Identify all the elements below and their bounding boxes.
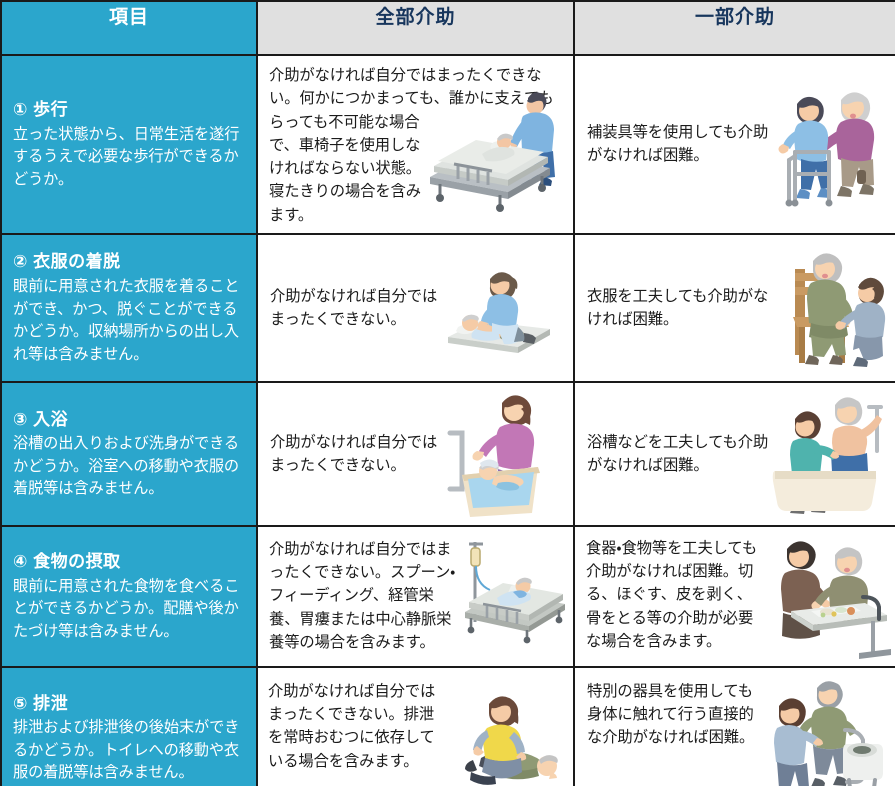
full-support-text: 介助がなければ自分ではまったくできない。排泄を常時おむつに依存している場合を含み… bbox=[268, 683, 435, 770]
caregiver-dressing-seated-elderly-man-icon bbox=[771, 243, 889, 373]
header-item: 項目 bbox=[1, 1, 257, 55]
table-row: ③ 入浴 浴槽の出入りおよび洗身ができるかどうか。浴室への移動や衣服の着脱等は含… bbox=[1, 382, 895, 526]
item-title: ③ 入浴 bbox=[13, 408, 246, 433]
table-row: ② 衣服の着脱 眼前に用意された衣服を着ることができ、かつ、脱ぐことができるかど… bbox=[1, 234, 895, 382]
item-title: ① 歩行 bbox=[13, 98, 246, 123]
table-row: ① 歩行 立った状態から、日常生活を遂行するうえで必要な歩行ができるかどうか。 bbox=[1, 55, 895, 234]
care-assessment-table-page: 項目 全部介助 一部介助 ① 歩行 立った状態から、日常生活を遂行するうえで必要… bbox=[0, 0, 895, 786]
item-description: 立った状態から、日常生活を遂行するうえで必要な歩行ができるかどうか。 bbox=[13, 124, 246, 192]
caregiver-assisting-elderly-woman-with-walker-icon bbox=[771, 74, 889, 214]
caregiver-changing-diaper-on-floor-icon bbox=[451, 680, 569, 786]
caregiver-assisting-meal-at-table-icon bbox=[767, 537, 891, 665]
item-cell-bathing: ③ 入浴 浴槽の出入りおよび洗身ができるかどうか。浴室への移動や衣服の着脱等は含… bbox=[1, 382, 257, 526]
full-support-text: 介助がなければ自分ではまったくできない。 bbox=[270, 285, 440, 332]
table-row: ④ 食物の摂取 眼前に用意された食物を食べることができるかどうか。配膳や後かたづ… bbox=[1, 526, 895, 667]
item-description: 浴槽の出入りおよび洗身ができるかどうか。浴室への移動や衣服の着脱等は含みません。 bbox=[13, 433, 246, 501]
header-partial-support: 一部介助 bbox=[574, 1, 895, 55]
partial-support-cell-bathing: 浴槽などを工夫しても介助がなければ困難。 bbox=[574, 382, 895, 526]
partial-support-cell-walking: 補装具等を使用しても介助がなければ困難。 bbox=[574, 55, 895, 234]
full-support-cell-dressing: 介助がなければ自分ではまったくできない。 bbox=[257, 234, 574, 382]
table-header: 項目 全部介助 一部介助 bbox=[1, 1, 895, 55]
header-full-support: 全部介助 bbox=[257, 1, 574, 55]
item-cell-eating: ④ 食物の摂取 眼前に用意された食物を食べることができるかどうか。配膳や後かたづ… bbox=[1, 526, 257, 667]
item-description: 眼前に用意された食物を食べることができるかどうか。配膳や後かたづけ等は含みません… bbox=[13, 576, 246, 644]
full-support-cell-toileting: 介助がなければ自分ではまったくできない。排泄を常時おむつに依存している場合を含み… bbox=[257, 667, 574, 786]
item-description: 排泄および排泄後の後始末ができるかどうか。トイレへの移動や衣服の着脱等は含みませ… bbox=[13, 717, 246, 785]
item-title: ② 衣服の着脱 bbox=[13, 250, 246, 275]
full-support-cell-eating: 介助がなければ自分ではまったくできない。スプーン・フィーディング、経管栄養、胃瘻… bbox=[257, 526, 574, 667]
item-title: ④ 食物の摂取 bbox=[13, 550, 246, 575]
table-row: ⑤ 排泄 排泄および排泄後の後始末ができるかどうか。トイレへの移動や衣服の着脱等… bbox=[1, 667, 895, 786]
full-support-text: 介助がなければ自分ではまったくできない。スプーン・フィーディング、経管栄養、胃瘻… bbox=[269, 541, 455, 651]
partial-support-cell-eating: 食器・食物等を工夫しても介助がなければ困難。切る、ほぐす、皮を剥く、骨をとる等の… bbox=[574, 526, 895, 667]
partial-support-text: 特別の器具を使用しても身体に触れて行う直接的な介助がなければ困難。 bbox=[587, 680, 763, 786]
item-description: 眼前に用意された衣服を着ることができ、かつ、脱ぐことができるかどうか。収納場所か… bbox=[13, 276, 246, 366]
care-assessment-table: 項目 全部介助 一部介助 ① 歩行 立った状態から、日常生活を遂行するうえで必要… bbox=[0, 0, 895, 786]
partial-support-text: 食器・食物等を工夫しても介助がなければ困難。切る、ほぐす、皮を剥く、骨をとる等の… bbox=[586, 540, 757, 650]
partial-support-text: 浴槽などを工夫しても介助がなければ困難。 bbox=[587, 431, 769, 478]
item-cell-toileting: ⑤ 排泄 排泄および排泄後の後始末ができるかどうか。トイレへの移動や衣服の着脱等… bbox=[1, 667, 257, 786]
partial-support-cell-toileting: 特別の器具を使用しても身体に触れて行う直接的な介助がなければ困難。 bbox=[574, 667, 895, 786]
caregiver-assisting-transfer-to-commode-icon bbox=[763, 680, 885, 786]
header-row: 項目 全部介助 一部介助 bbox=[1, 1, 895, 55]
item-cell-dressing: ② 衣服の着脱 眼前に用意された衣服を着ることができ、かつ、脱ぐことができるかど… bbox=[1, 234, 257, 382]
patient-in-bed-with-iv-drip-icon bbox=[459, 538, 569, 654]
table-body: ① 歩行 立った状態から、日常生活を遂行するうえで必要な歩行ができるかどうか。 bbox=[1, 55, 895, 786]
partial-support-cell-dressing: 衣服を工夫しても介助がなければ困難。 bbox=[574, 234, 895, 382]
partial-support-text: 衣服を工夫しても介助がなければ困難。 bbox=[587, 285, 771, 332]
item-cell-walking: ① 歩行 立った状態から、日常生活を遂行するうえで必要な歩行ができるかどうか。 bbox=[1, 55, 257, 234]
full-support-cell-bathing: 介助がなければ自分ではまったくできない。 bbox=[257, 382, 574, 526]
caregiver-washing-person-in-bathtub-icon bbox=[440, 389, 552, 519]
partial-support-text: 補装具等を使用しても介助がなければ困難。 bbox=[587, 121, 771, 168]
caregiver-helping-person-into-bathtub-icon bbox=[769, 391, 889, 517]
caregiver-pushing-stretcher-bed-icon bbox=[424, 64, 565, 224]
item-title: ⑤ 排泄 bbox=[13, 692, 246, 717]
full-support-cell-walking: 介助がなければ自分ではまったくできない。何かにつかまっても、誰かに支えてもらって… bbox=[257, 55, 574, 234]
full-support-text: 介助がなければ自分ではまったくできない。 bbox=[270, 431, 440, 478]
caregiver-dressing-person-on-bed-icon bbox=[440, 249, 558, 367]
